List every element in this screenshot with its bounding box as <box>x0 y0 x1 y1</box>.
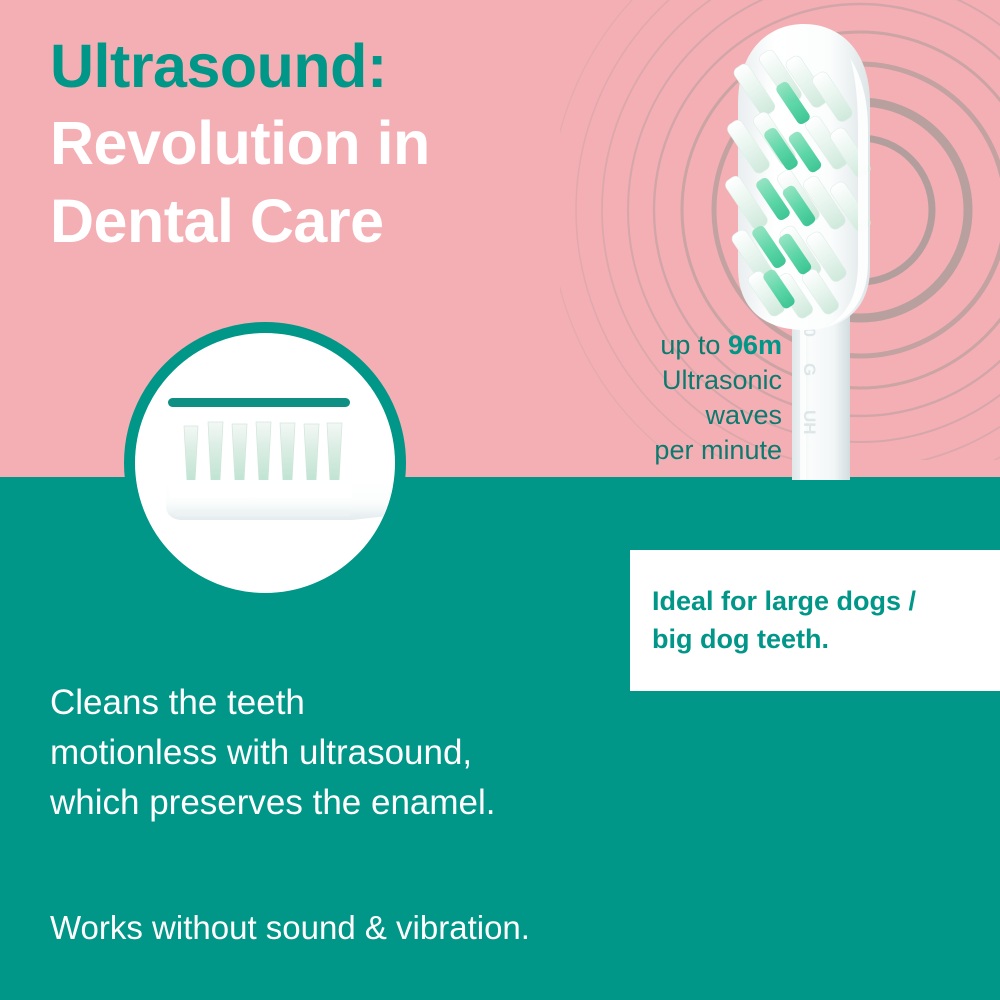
stat-line-1: up to 96m <box>470 328 782 363</box>
body-line-2: motionless with ultrasound, <box>50 728 670 778</box>
svg-text:UH: UH <box>800 410 819 435</box>
tooth-surface-bar <box>168 398 350 407</box>
stat-line-4: per minute <box>470 433 782 468</box>
body-line-1: Cleans the teeth <box>50 678 670 728</box>
body-copy: Cleans the teeth motionless with ultraso… <box>50 678 670 828</box>
headline: Ultrasound: Revolution in Dental Care <box>50 28 610 260</box>
body-line-3: which preserves the enamel. <box>50 778 670 828</box>
stat-line-3: waves <box>470 398 782 433</box>
stat-value: 96m <box>728 330 782 360</box>
headline-line-1: Ultrasound: <box>50 28 610 105</box>
svg-text:G: G <box>800 363 819 376</box>
callout-line-2: big dog teeth. <box>652 620 982 658</box>
poster-canvas: 20 G UH <box>0 0 1000 1000</box>
ultrasonic-stat-block: up to 96m Ultrasonic waves per minute <box>470 328 782 468</box>
headline-line-3: Dental Care <box>50 183 610 260</box>
callout-box: Ideal for large dogs / big dog teeth. <box>630 550 1000 691</box>
brush-detail-inset-circle <box>124 322 406 604</box>
headline-line-2: Revolution in <box>50 105 610 182</box>
callout-line-1: Ideal for large dogs / <box>652 582 982 620</box>
stat-line-2: Ultrasonic <box>470 363 782 398</box>
inset-artwork <box>124 322 406 604</box>
stat-prefix: up to <box>660 330 728 360</box>
callout-text: Ideal for large dogs / big dog teeth. <box>652 582 982 659</box>
footer-copy: Works without sound & vibration. <box>50 908 750 948</box>
